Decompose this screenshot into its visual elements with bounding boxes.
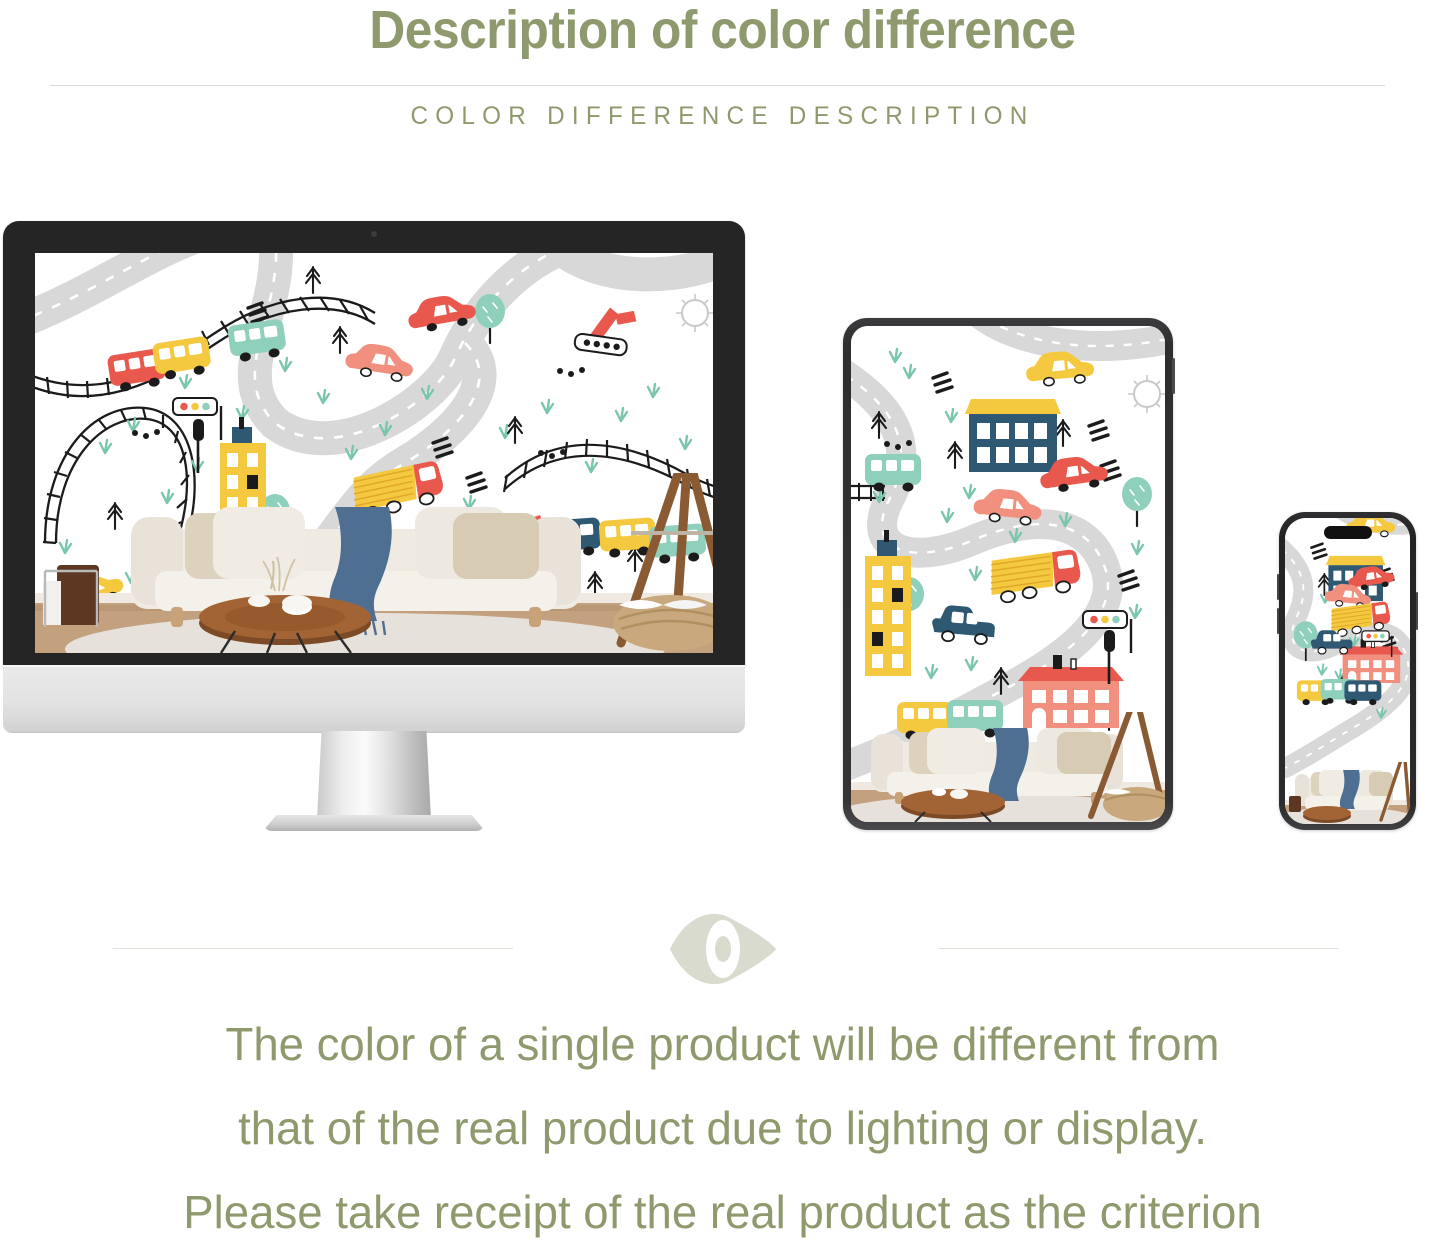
tablet-room-photo bbox=[851, 712, 1165, 822]
monitor-stand-neck bbox=[317, 731, 431, 819]
tablet-mockup bbox=[843, 318, 1173, 830]
monitor-chin bbox=[3, 665, 745, 733]
phone-screen bbox=[1285, 518, 1410, 824]
disclaimer-line-3: Please take receipt of the real product … bbox=[7, 1170, 1438, 1254]
monitor-stand-base bbox=[263, 815, 485, 831]
divider-line-left bbox=[113, 948, 513, 949]
section-divider bbox=[0, 900, 1445, 1000]
phone-volume-up-button[interactable] bbox=[1277, 574, 1279, 600]
monitor-screen bbox=[35, 253, 713, 653]
desktop-monitor-mockup bbox=[3, 221, 745, 840]
smartphone-mockup bbox=[1279, 512, 1416, 830]
dynamic-island bbox=[1324, 526, 1372, 539]
eye-icon bbox=[666, 911, 780, 987]
color-difference-infographic: Description of color difference COLOR DI… bbox=[0, 0, 1445, 1246]
device-mockups-group bbox=[0, 0, 1445, 900]
monitor-room-photo bbox=[35, 473, 713, 653]
tablet-screen bbox=[851, 326, 1165, 822]
color-disclaimer-text: The color of a single product will be di… bbox=[7, 1002, 1438, 1254]
phone-room-photo bbox=[1285, 762, 1410, 824]
tablet-power-button[interactable] bbox=[1172, 358, 1175, 394]
phone-power-button[interactable] bbox=[1416, 592, 1418, 630]
phone-volume-down-button[interactable] bbox=[1277, 608, 1279, 634]
disclaimer-line-2: that of the real product due to lighting… bbox=[7, 1086, 1438, 1170]
webcam-icon bbox=[371, 231, 377, 237]
disclaimer-line-1: The color of a single product will be di… bbox=[7, 1002, 1438, 1086]
divider-line-right bbox=[938, 948, 1338, 949]
